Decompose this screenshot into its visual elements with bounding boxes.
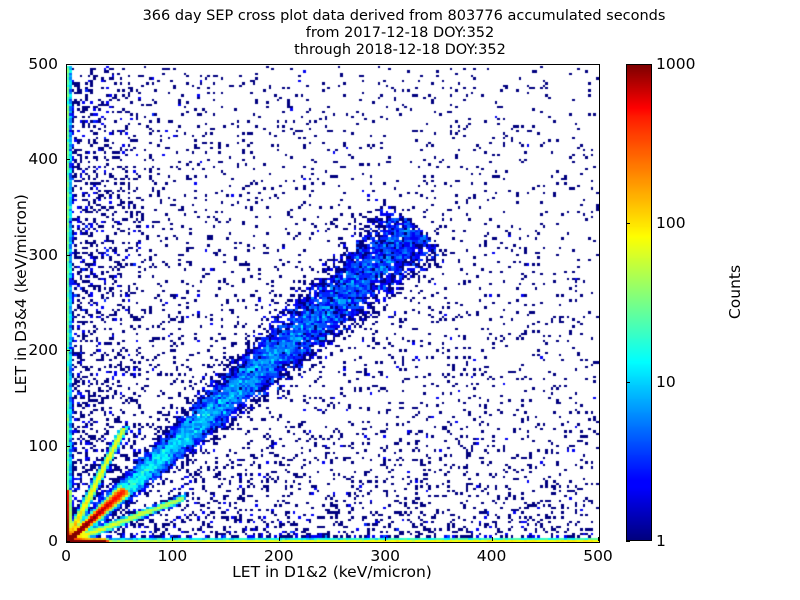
colorbar-tick-mark xyxy=(626,541,630,542)
colorbar-tick-mark xyxy=(626,382,630,383)
colorbar-tick-mark xyxy=(626,223,630,224)
x-tick-mark xyxy=(279,537,280,541)
colorbar-label: Counts xyxy=(726,212,744,372)
y-tick-mark xyxy=(66,541,70,542)
y-tick-mark xyxy=(66,446,70,447)
y-tick-mark xyxy=(66,64,70,65)
colorbar-tick-label: 100 xyxy=(656,214,686,232)
x-tick-mark xyxy=(385,537,386,541)
y-tick-mark xyxy=(66,350,70,351)
x-tick-mark xyxy=(598,537,599,541)
title-line-2: from 2017-12-18 DOY:352 xyxy=(0,25,800,42)
colorbar-tick-label: 10 xyxy=(656,373,676,391)
colorbar-ramp xyxy=(627,65,651,540)
y-tick-mark xyxy=(66,255,70,256)
plot-title: 366 day SEP cross plot data derived from… xyxy=(0,8,800,59)
x-tick-mark xyxy=(172,537,173,541)
y-tick-mark xyxy=(66,159,70,160)
colorbar-gradient xyxy=(626,64,652,541)
density-scatter-plot xyxy=(67,65,599,542)
y-tick-label: 0 xyxy=(0,532,58,550)
colorbar xyxy=(626,64,652,541)
colorbar-tick-label: 1 xyxy=(656,532,666,550)
title-line-1: 366 day SEP cross plot data derived from… xyxy=(8,8,800,25)
plot-axes xyxy=(66,64,600,543)
y-tick-label: 500 xyxy=(0,55,58,73)
colorbar-tick-label: 1000 xyxy=(656,55,695,73)
x-axis-label: LET in D1&2 (keV/micron) xyxy=(0,563,664,581)
x-tick-mark xyxy=(66,537,67,541)
colorbar-tick-mark xyxy=(626,64,630,65)
x-tick-mark xyxy=(492,537,493,541)
figure-canvas: 366 day SEP cross plot data derived from… xyxy=(0,0,800,600)
y-axis-label: LET in D3&4 (keV/micron) xyxy=(12,134,30,454)
